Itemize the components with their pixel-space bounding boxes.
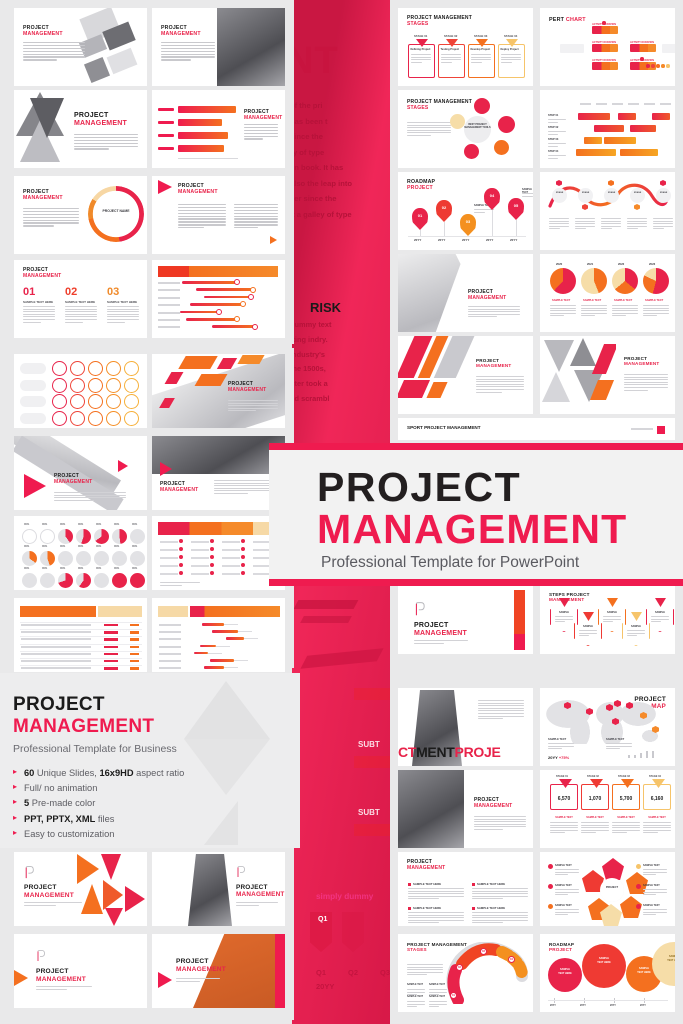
band-risk-line: industry's	[292, 348, 393, 363]
roadmap-pin-label: 05	[508, 203, 524, 208]
table-row	[20, 629, 142, 630]
slide-title-line2: MANAGEMENT	[244, 116, 282, 122]
chart-bar	[652, 113, 670, 120]
bar-label	[158, 147, 174, 150]
slide-title-line2: MANAGEMENT	[236, 891, 285, 898]
pie-progress	[58, 529, 73, 544]
star-caption: SAMPLE TEXT	[555, 864, 572, 867]
slide-intro-geometric[interactable]: PROJECT MANAGEMENT	[14, 8, 147, 86]
stat-caption: SAMPLE TEXT HERE	[23, 300, 53, 304]
slide-title-line2: MANAGEMENT	[624, 361, 659, 366]
circle-node	[234, 316, 240, 322]
stat-caption: SAMPLE TEXT	[643, 816, 671, 819]
circle-node	[234, 279, 240, 285]
hexagon-label: SAMPLE	[622, 625, 650, 628]
pie-label: 00%	[24, 567, 29, 570]
status-badge	[104, 638, 118, 640]
slide-wave-timeline[interactable]: STAGESTAGESTAGESTAGESTAGE	[540, 172, 675, 250]
circle-node	[450, 114, 465, 129]
band-line: it a galley of type	[292, 207, 393, 223]
band-line: of the pri	[292, 98, 393, 114]
chart-bar	[210, 659, 234, 662]
features-decor	[170, 673, 300, 848]
band-risk-line: dummy text	[292, 318, 393, 333]
center-label: BEST PROJECT MANAGEMENT TOOLS	[464, 124, 491, 130]
slide-title-line2: MANAGEMENT	[24, 892, 74, 900]
architecture-photo	[14, 90, 70, 168]
slide-gantt-table[interactable]	[152, 598, 285, 672]
stripe-collage	[398, 336, 533, 414]
stat-stage-label: STAGE 04	[649, 775, 661, 778]
triangle-shape	[81, 884, 103, 914]
circle-node	[179, 563, 183, 567]
band-shape	[294, 600, 359, 609]
pin-year: 20YY	[486, 238, 493, 242]
pert-node	[592, 26, 618, 34]
slide-title-line2: MANAGEMENT	[474, 804, 512, 810]
text-block-title: SAMPLE TEXT HERE	[413, 906, 441, 910]
hero-title-line1: PROJECT	[317, 464, 521, 511]
slide-three-numbers[interactable]: PROJECT MANAGEMENT01 SAMPLE TEXT HERE 02…	[14, 260, 147, 338]
matrix-cell	[88, 361, 103, 376]
text-block-bullet	[472, 907, 475, 910]
matrix-cell	[70, 411, 85, 426]
pie-progress	[40, 529, 55, 544]
chart-bar	[204, 296, 250, 299]
map-bar	[628, 755, 630, 758]
chart-bar	[190, 303, 242, 306]
wave-node-label: STAGE	[604, 192, 619, 194]
slide-hero-architecture[interactable]: PROJECT MANAGEMENT	[14, 90, 147, 168]
circle-node	[600, 878, 624, 902]
band-shape	[300, 616, 352, 623]
pin-year: 20YY	[462, 238, 469, 242]
matrix-cell	[124, 378, 139, 393]
circle-node	[636, 904, 641, 909]
slide-title-line2: STAGES	[407, 22, 472, 28]
pie-label: 00%	[114, 545, 119, 548]
circle-node	[548, 884, 553, 889]
pie-chart	[612, 268, 638, 294]
pie-label: 00%	[42, 523, 47, 526]
slide-cover-orange-diagonal[interactable]: PROJECT MANAGEMENT	[152, 934, 285, 1008]
donut-chart	[88, 186, 144, 242]
band-button	[354, 688, 393, 700]
timeline-col-header	[596, 103, 607, 105]
circle-node	[241, 547, 245, 551]
big-cut-title: CTMENTPROJE	[398, 744, 501, 760]
text-block-bullet	[472, 883, 475, 886]
stat-number: 02	[65, 286, 77, 298]
features-title-line1: PROJECT	[13, 694, 184, 716]
brand-p-logo	[36, 950, 46, 962]
table-header	[158, 522, 280, 535]
triangle-shape	[570, 338, 596, 366]
text-block-title: SAMPLE TEXT HERE	[477, 906, 505, 910]
triangle-shape	[542, 372, 570, 402]
roadmap-tick-label: 20YY	[640, 1004, 646, 1007]
band-risk-line: the 1500s,	[292, 362, 393, 377]
star-petal	[602, 858, 624, 880]
matrix-row-pill	[20, 413, 46, 424]
slide-bar-chart[interactable]: PROJECT MANAGEMENT	[152, 90, 285, 168]
road-node-label: 04	[508, 958, 515, 961]
pie-year-label: 2022	[618, 262, 624, 266]
pie-progress	[40, 551, 55, 566]
slide-title-line2: STAGES	[407, 106, 472, 112]
circle-node	[548, 864, 553, 869]
map-bar	[640, 753, 642, 758]
chart-bar	[226, 637, 244, 640]
chart-bar	[604, 137, 636, 144]
chart-axis	[178, 158, 238, 159]
band-risk-heading: RISK	[310, 300, 341, 315]
band-pin-label: Q1	[318, 916, 327, 923]
matrix-cell	[70, 394, 85, 409]
circle-node	[661, 64, 665, 68]
gantt-row-label	[158, 312, 180, 314]
slide-title-line1: PROJECT	[236, 884, 285, 891]
circle-node	[640, 57, 644, 61]
man-photo	[188, 854, 232, 926]
slide-title-line2: PROJECT	[549, 947, 574, 952]
slide-stat-cards[interactable]: STAGE 016,570SAMPLE TEXTSTAGE 021,070SAM…	[540, 770, 675, 848]
stat-stage-label: STAGE 01	[556, 775, 568, 778]
triangle-shape	[125, 886, 145, 912]
roadmap-pin-label: 03	[460, 219, 476, 224]
matrix-cell	[70, 378, 85, 393]
slide-woman-photo[interactable]: CTMENTPROJE	[398, 688, 533, 766]
table-cell-label	[191, 557, 209, 559]
slide-forest-photo[interactable]: PROJECT MANAGEMENT	[152, 436, 285, 510]
chart-bar	[584, 137, 602, 144]
matrix-cell	[124, 394, 139, 409]
slide-arrow-diagonal[interactable]: PROJECT MANAGEMENT	[14, 436, 147, 510]
road-node-label: 01	[450, 994, 457, 997]
slide-title-line2: MANAGEMENT	[476, 363, 511, 368]
map-bar	[646, 751, 648, 758]
slide-comparison-table[interactable]	[152, 516, 285, 590]
triangle-shape	[158, 180, 172, 194]
pie-progress	[76, 551, 91, 566]
pie-chart	[581, 268, 607, 294]
stat-value: 1,070	[581, 796, 609, 802]
chart-bar	[630, 125, 656, 132]
slide-road-stages[interactable]: PROJECT MANAGEMENT STAGES 01020304SAMPLE…	[398, 934, 533, 1012]
chart-bar	[620, 149, 658, 156]
triangle-shape	[77, 854, 99, 884]
circle-node	[578, 188, 593, 203]
map-caption-right: SAMPLE TEXT	[606, 738, 624, 741]
table-cell-label	[222, 549, 240, 551]
slide-four-text-blocks[interactable]: PROJECT MANAGEMENT SAMPLE TEXT HERE SAMP…	[398, 852, 533, 926]
workers-photo	[398, 770, 464, 848]
forest-photo	[152, 436, 285, 474]
stage-card-title: Deploy Project	[501, 48, 519, 51]
triangle-shape	[105, 908, 123, 926]
stat-caption: SAMPLE TEXT HERE	[65, 300, 95, 304]
meeting-photo	[217, 8, 285, 86]
table-cell-label	[191, 573, 209, 575]
circle-node	[210, 539, 214, 543]
roadmap-pin	[508, 198, 524, 220]
triangle-shape	[103, 880, 123, 910]
chart-bar	[196, 288, 252, 291]
slide-roadmap-pins[interactable]: ROADMAP PROJECT 01 20YY 02 20YY 03 20YYS…	[398, 172, 533, 250]
chart-bar	[576, 149, 616, 156]
stat-stage-label: STAGE 02	[587, 775, 599, 778]
circle-node	[630, 188, 645, 203]
slide-pert-chart[interactable]: PERT CHART ACTIVITY DURATIONACTIVITY DUR…	[540, 8, 675, 86]
pie-caption: SAMPLE TEXT	[552, 299, 570, 302]
pie-label: 00%	[42, 567, 47, 570]
hero-banner: PROJECT MANAGEMENT Professional Template…	[269, 443, 683, 586]
band-q1: Q1	[316, 968, 326, 977]
hexagon-label: SAMPLE	[550, 611, 578, 614]
features-subtitle: Professional Template for Business	[13, 743, 184, 755]
slide-intro-photo-meeting[interactable]: PROJECT MANAGEMENT	[152, 8, 285, 86]
slide-title-line2: MANAGEMENT	[161, 32, 201, 38]
gantt-row-label	[158, 326, 180, 328]
circle-node	[656, 188, 671, 203]
circle-node	[498, 116, 515, 133]
pie-caption: SAMPLE TEXT	[614, 299, 632, 302]
slide-title-line2: MANAGEMENT	[36, 976, 86, 984]
slide-title-line2: MANAGEMENT	[23, 274, 61, 280]
band-paragraph: of the prihas been tsince thery of typee…	[292, 98, 393, 223]
stat-caption: SAMPLE TEXT	[581, 816, 609, 819]
roadmap-pin-label: 01	[412, 213, 428, 218]
slide-cover-plain[interactable]: PROJECT MANAGEMENT	[14, 934, 147, 1008]
table-cell-label	[160, 557, 178, 559]
circle-node	[464, 144, 479, 159]
pie-caption: SAMPLE TEXT	[645, 299, 663, 302]
pie-year-label: 2023	[649, 262, 655, 266]
road-caption: SAMPLE TEXT	[429, 984, 445, 986]
slide-title-line1: PROJECT	[414, 622, 467, 630]
feature-item: PPT, PPTX, XML files	[13, 814, 184, 824]
pie-progress	[94, 551, 109, 566]
circle-node	[240, 301, 246, 307]
chart-bar	[594, 125, 624, 132]
pert-node	[592, 44, 618, 52]
roadmap-tick-label: 20YY	[550, 1004, 556, 1007]
preview-canvas: NT of the prihas been tsince thery of ty…	[0, 0, 683, 1024]
stage-label: STAGE 02	[444, 34, 457, 38]
timeline-row-label: STEP 03	[548, 138, 558, 141]
accent-vertical-bar-2	[514, 634, 525, 650]
chart-bar	[178, 132, 228, 139]
timeline-row-label: STEP 02	[548, 126, 558, 129]
timeline-col-header	[660, 103, 671, 105]
triangle-shape	[544, 340, 574, 372]
slide-cover-man-photo[interactable]: PROJECT MANAGEMENT	[152, 852, 285, 926]
table-row	[20, 622, 142, 623]
pie-progress	[22, 551, 37, 566]
slide-two-column-text[interactable]: PROJECT MANAGEMENT	[152, 176, 285, 254]
stat-caption: SAMPLE TEXT	[550, 816, 578, 819]
circle-node	[179, 547, 183, 551]
slide-sport-footer[interactable]: SPORT PROJECT MANAGEMENT	[398, 418, 675, 440]
slide-stages-circles[interactable]: PROJECT MANAGEMENT STAGES BEST PROJECT M…	[398, 90, 533, 168]
slide-circle-matrix[interactable]	[14, 354, 147, 428]
chart-bar	[204, 666, 224, 669]
circle-node	[474, 98, 490, 114]
circle-node	[250, 287, 256, 293]
star-caption: SAMPLE TEXT	[643, 864, 660, 867]
circle-node	[582, 944, 626, 988]
band-dummy-text: simply dummy	[316, 892, 373, 901]
slide-title-line2: CHART	[566, 17, 586, 23]
matrix-cell	[106, 411, 121, 426]
circle-node	[252, 324, 258, 330]
table-cell-label	[191, 565, 209, 567]
pie-progress	[22, 529, 37, 544]
pie-progress	[112, 529, 127, 544]
band-button	[354, 756, 393, 768]
circle-node	[636, 884, 641, 889]
pin-stem	[516, 220, 517, 236]
status-badge	[104, 631, 118, 633]
stage-card-title: Develop Project	[471, 48, 491, 51]
status-badge	[104, 667, 118, 669]
pie-label: 00%	[114, 567, 119, 570]
slide-donut-chart[interactable]: PROJECT MANAGEMENT PROJECT NAME	[14, 176, 147, 254]
matrix-cell	[106, 378, 121, 393]
slide-title-line2: MANAGEMENT	[160, 488, 198, 494]
band-line: also the leap into	[292, 176, 393, 192]
table-header	[190, 606, 280, 617]
stat-value: 6,570	[550, 796, 578, 802]
slide-cover-triangles[interactable]: PROJECT MANAGEMENT	[14, 852, 147, 926]
band-risk-paragraph: dummy texttting indry.industry'sthe 1500…	[292, 318, 393, 407]
text-block-bullet	[408, 907, 411, 910]
pie-progress	[40, 573, 55, 588]
table-cell-label	[191, 549, 209, 551]
circle-node	[656, 64, 660, 68]
map-caption-left: SAMPLE TEXT	[548, 738, 566, 741]
table-header	[98, 606, 142, 617]
pie-chart	[643, 268, 669, 294]
circle-node	[241, 539, 245, 543]
circle-node	[241, 571, 245, 575]
circle-node	[602, 21, 606, 25]
band-q3: Q3	[380, 968, 390, 977]
chart-bar	[200, 645, 216, 648]
band-cut-title: NT	[292, 40, 339, 83]
gantt-row-label	[158, 289, 180, 291]
slide-pie-progress-grid[interactable]: 00% 00% 00% 00% 00% 00% 00% 00% 00% 00% …	[14, 516, 147, 590]
hero-subtitle: Professional Template for PowerPoint	[321, 554, 579, 572]
slide-workers-photo[interactable]: PROJECT MANAGEMENT	[398, 770, 533, 848]
triangle-shape	[101, 854, 121, 880]
grey-geometry	[540, 336, 616, 414]
map-bar	[652, 751, 654, 758]
slide-project-map[interactable]: PROJECT MAPSAMPLE TEXT 20YY +75% SAMPLE …	[540, 688, 675, 766]
matrix-cell	[52, 361, 67, 376]
pin-year: 20YY	[438, 238, 445, 242]
matrix-cell	[52, 394, 67, 409]
slide-roadmap-circles[interactable]: ROADMAP PROJECTSAMPLETEXT HERESAMPLETEXT…	[540, 934, 675, 1012]
triangle-shape	[118, 460, 128, 472]
slide-title-line1: PROJECT	[74, 112, 127, 120]
wave-node-label: STAGE	[630, 192, 645, 194]
chart-bar	[618, 113, 636, 120]
roadmap-pin	[412, 208, 428, 230]
slide-title-line2: MANAGEMENT	[178, 190, 218, 196]
slide-pie-chart-row[interactable]: 2020 SAMPLE TEXT 2021 SAMPLE TEXT 2022 S…	[540, 254, 675, 332]
matrix-row-pill	[20, 396, 46, 407]
slide-timeline-bars[interactable]: STEP 01 STEP 02 STEP 03 STEP 04	[540, 90, 675, 168]
band-button	[354, 824, 393, 836]
chart-bar	[178, 145, 224, 152]
slide-diagonal-shapes-photo[interactable]: PROJECT MANAGEMENT	[152, 354, 285, 428]
pie-progress	[130, 529, 145, 544]
roadmap-circle-label: SAMPLETEXT HERE	[548, 968, 582, 976]
status-badge	[104, 653, 118, 655]
band-risk-line: tting indry.	[292, 333, 393, 348]
circle-node	[548, 904, 553, 909]
pie-progress	[76, 529, 91, 544]
band-year: 20YY	[316, 982, 334, 991]
features-list: 60 Unique Slides, 16x9HD aspect ratioFul…	[13, 768, 184, 839]
gantt-row-label	[158, 304, 180, 306]
text-block-bullet	[408, 883, 411, 886]
status-badge	[104, 660, 118, 662]
band-risk-line: nter took a	[292, 377, 393, 392]
pie-progress	[112, 573, 127, 588]
slide-title-line2: MANAGEMENT	[23, 32, 63, 38]
pie-label: 00%	[114, 523, 119, 526]
slide-geometric-grey[interactable]: PROJECT MANAGEMENT	[540, 336, 675, 414]
roadmap-tick-label: 20YY	[580, 1004, 586, 1007]
pie-label: 00%	[24, 545, 29, 548]
status-badge	[104, 624, 118, 626]
stat-stage-label: STAGE 03	[618, 775, 630, 778]
slide-cover-logo[interactable]: PROJECT MANAGEMENT	[398, 586, 533, 654]
wave-node-label: STAGE	[578, 192, 593, 194]
slide-task-table[interactable]	[14, 598, 147, 672]
timeline-col-header	[612, 103, 623, 105]
slide-gantt-timeline[interactable]	[152, 260, 285, 338]
pie-progress	[58, 551, 73, 566]
pie-progress	[22, 573, 37, 588]
hero-title-line2: MANAGEMENT	[317, 506, 627, 553]
slide-mountain-photo[interactable]: PROJECT MANAGEMENT	[398, 254, 533, 332]
slide-stages-cards[interactable]: PROJECT MANAGEMENT STAGESSTAGE 01Definin…	[398, 8, 533, 86]
slide-star-diagram[interactable]: PROJECTSAMPLE TEXT SAMPLE TEXT SAMPLE TE…	[540, 852, 675, 926]
slide-diagonal-stripes[interactable]: PROJECT MANAGEMENT	[398, 336, 533, 414]
slide-title-line2: PROJECT	[407, 186, 435, 192]
timeline-col-header	[628, 103, 639, 105]
band-subt-1: SUBT	[358, 740, 380, 749]
table-cell-label	[160, 541, 178, 543]
circle-node	[646, 64, 650, 68]
circle-node	[210, 547, 214, 551]
timeline-row-label: STEP 04	[548, 150, 558, 153]
pin-stem	[492, 210, 493, 236]
triangle-shape	[158, 972, 172, 988]
slide-title-line1: PERT	[549, 17, 564, 23]
brand-p-logo	[236, 866, 246, 878]
pie-label: 00%	[96, 567, 101, 570]
slide-steps-hexagons[interactable]: STEPS PROJECT MANAGEMENTSAMPLESAMPLESAMP…	[540, 586, 675, 654]
circle-node	[210, 571, 214, 575]
table-cell-label	[222, 557, 240, 559]
stat-caption: SAMPLE TEXT	[612, 816, 640, 819]
matrix-cell	[52, 378, 67, 393]
pie-label: 00%	[96, 545, 101, 548]
